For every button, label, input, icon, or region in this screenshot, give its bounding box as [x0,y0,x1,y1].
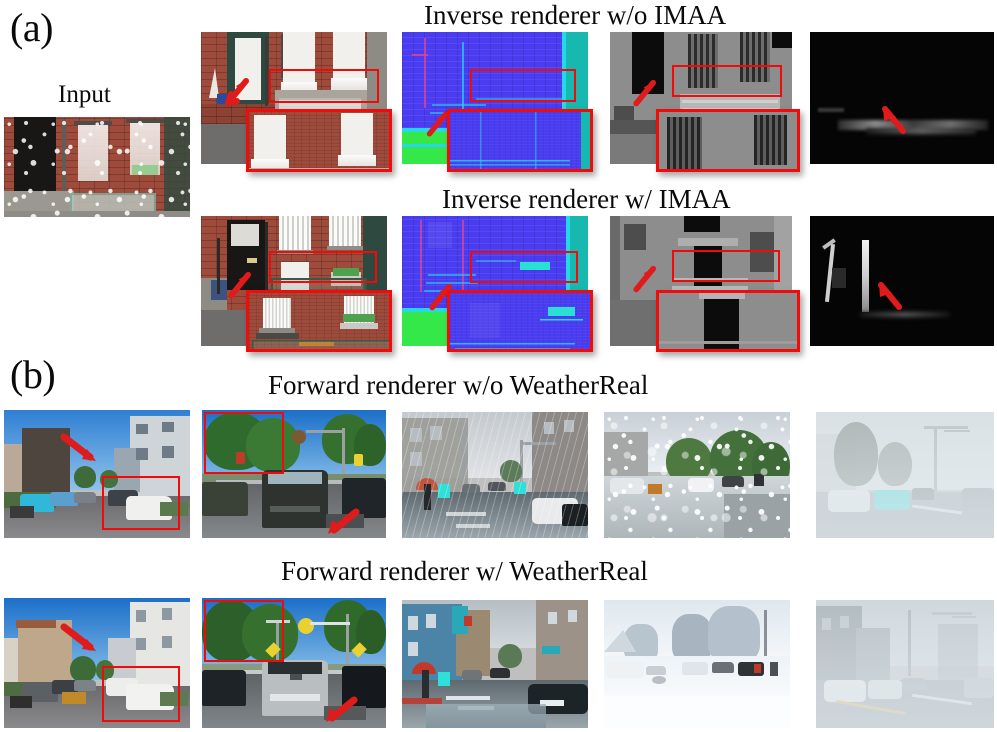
inset-normal-without-imaa [447,109,593,172]
panel-snow-with-weatherreal [604,600,790,728]
panel-fog-with-weatherreal [816,600,994,728]
annotation-arrow [60,432,98,466]
annotation-arrow [624,78,656,110]
annotation-arrow [624,264,656,296]
annotation-arrow [324,508,360,536]
section-label-a: (a) [10,8,53,48]
panel-street-clear-with-weatherreal [4,598,190,728]
panel-specular-with-imaa [810,216,994,346]
column-title-input: Input [58,82,111,107]
panel-rain-without-weatherreal [402,412,588,538]
inset-albedo-with-imaa [246,290,392,352]
panel-specular-without-imaa [810,32,994,164]
section-label-b: (b) [10,355,55,395]
annotation-arrow [322,696,358,724]
inset-normal-with-imaa [447,290,593,352]
annotation-arrow [868,278,902,312]
panel-street-clear-without-weatherreal [4,410,190,538]
annotation-arrow [215,76,249,110]
annotation-arrow [60,622,98,656]
row-title-forward-without-weatherreal: Forward renderer w/o WeatherReal [268,372,648,399]
row-title-inverse-with-imaa: Inverse renderer w/ IMAA [442,186,731,213]
row-title-forward-with-weatherreal: Forward renderer w/ WeatherReal [281,558,648,585]
panel-snow-without-weatherreal [604,412,790,538]
panel-truck-rear-without-weatherreal [202,410,386,538]
annotation-arrow [872,102,906,136]
figure-root: (a) Input Inverse renderer w/o IMAA Inve… [0,0,997,732]
panel-rain-with-weatherreal [402,600,588,728]
panel-truck-rear-with-weatherreal [202,598,386,728]
inset-roughness-with-imaa [656,290,800,352]
row-title-inverse-without-imaa: Inverse renderer w/o IMAA [424,2,726,29]
panel-fog-without-weatherreal [816,412,994,538]
annotation-arrow [418,110,448,140]
panel-input-snowy-brick-facade [4,117,190,217]
inset-albedo-without-imaa [246,109,392,172]
inset-roughness-without-imaa [656,109,800,172]
